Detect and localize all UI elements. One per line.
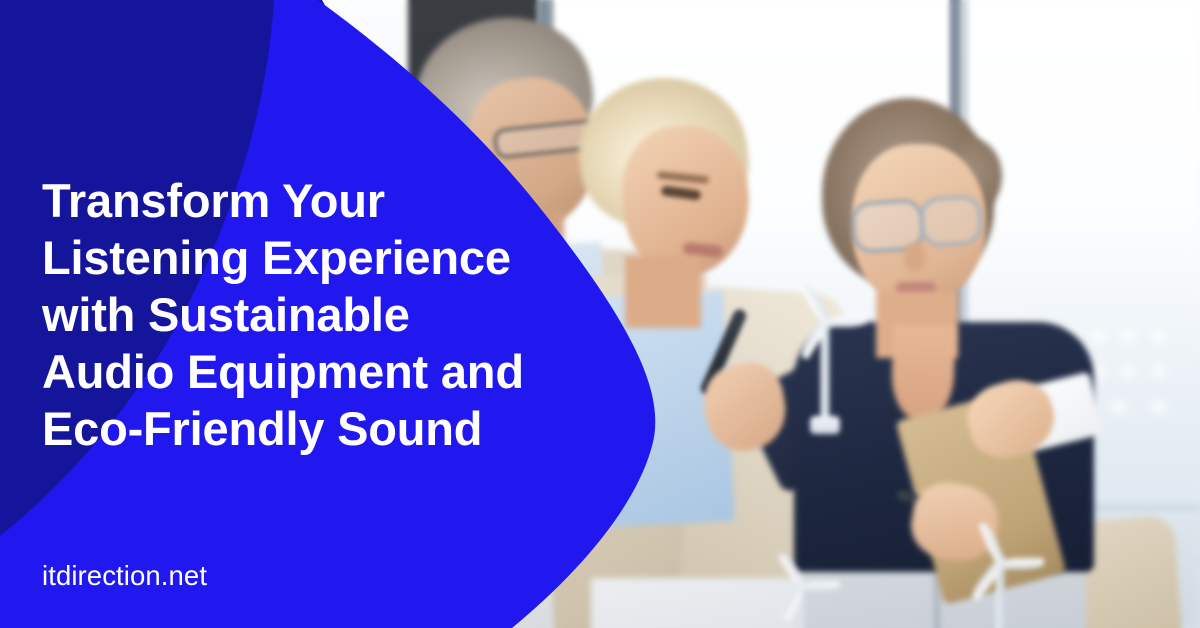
headline-line: Transform Your (42, 172, 602, 229)
headline-line: with Sustainable (42, 286, 602, 343)
marketing-banner: Transform Your Listening Experience with… (0, 0, 1200, 628)
headline-line: Eco-Friendly Sound (42, 400, 602, 457)
page-title: Transform Your Listening Experience with… (42, 172, 602, 457)
website-url[interactable]: itdirection.net (42, 560, 207, 592)
headline-line: Listening Experience (42, 229, 602, 286)
headline-line: Audio Equipment and (42, 343, 602, 400)
